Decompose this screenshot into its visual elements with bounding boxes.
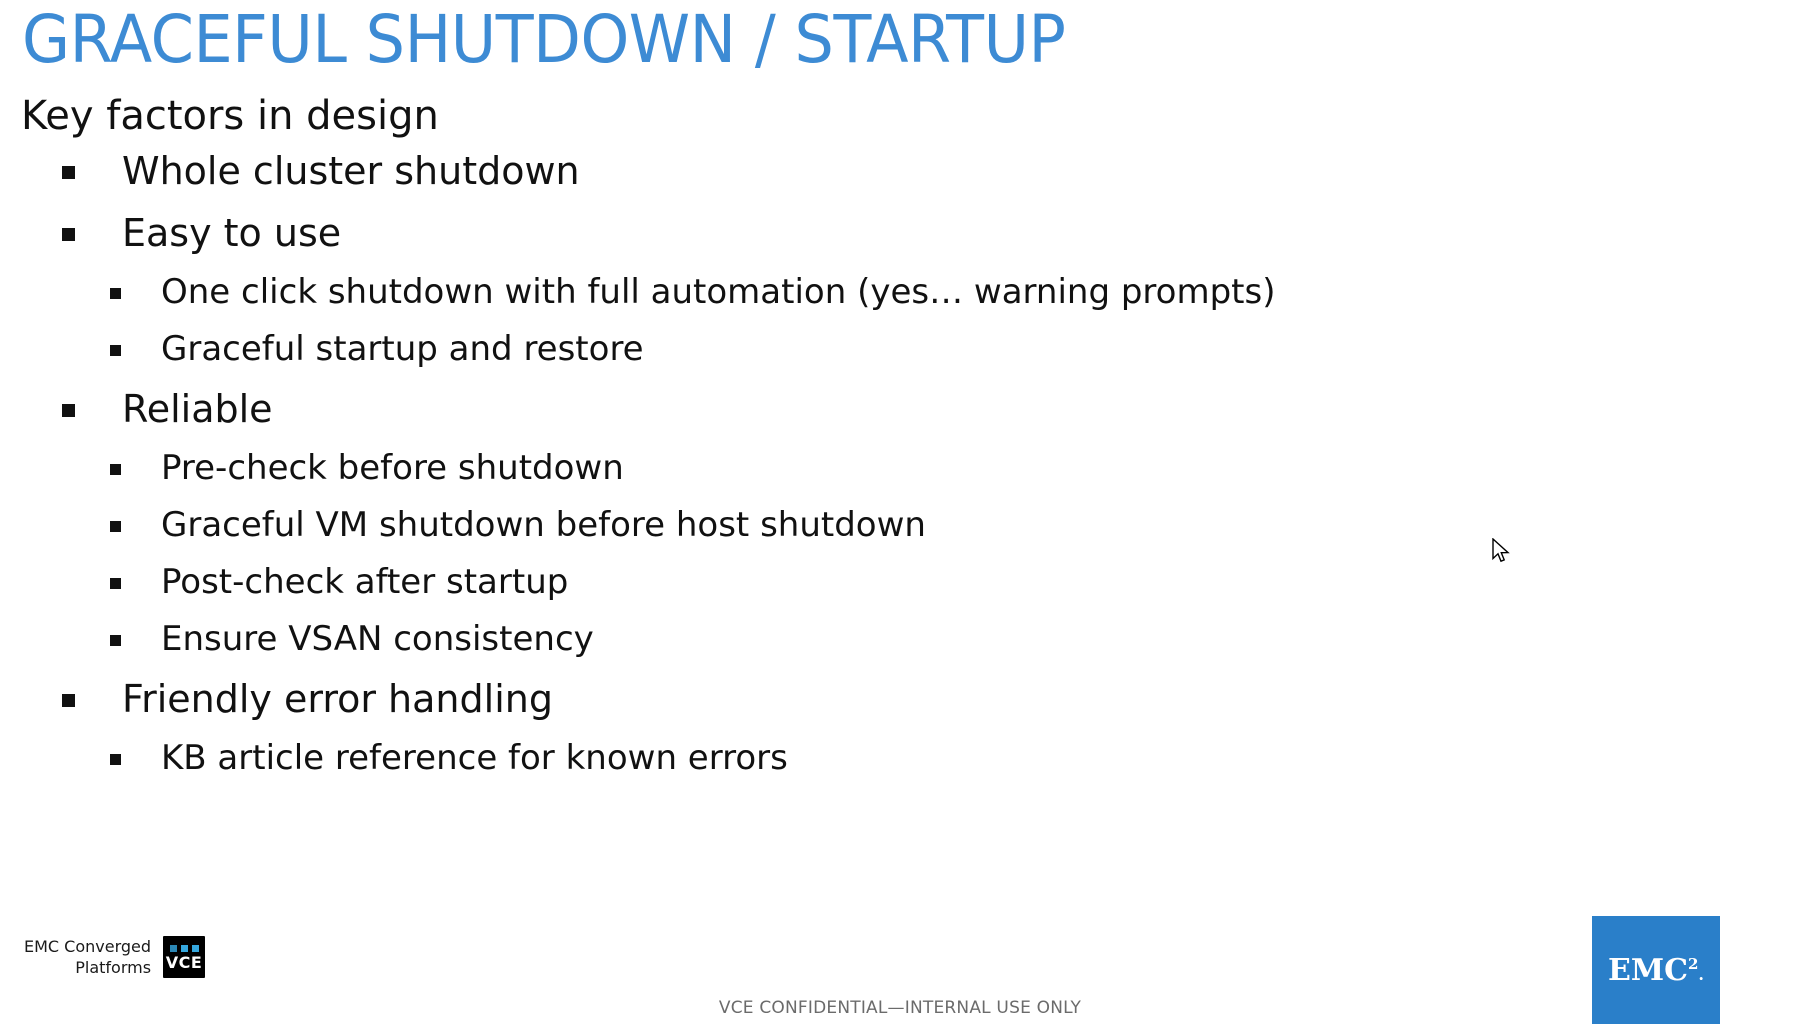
list-item-label: Ensure VSAN consistency xyxy=(161,611,594,668)
list-item-label: Graceful startup and restore xyxy=(161,321,644,378)
page-title: GRACEFUL SHUTDOWN / STARTUP xyxy=(22,0,1065,82)
list-item-label: KB article reference for known errors xyxy=(161,730,788,787)
slide-canvas: GRACEFUL SHUTDOWN / STARTUP Key factors … xyxy=(0,0,1800,1024)
confidentiality-footer: VCE CONFIDENTIAL—INTERNAL USE ONLY xyxy=(0,997,1800,1019)
emc-logo-trailing-dot: . xyxy=(1698,965,1704,984)
list-item: Friendly error handling xyxy=(0,668,1500,730)
vce-mark-squares xyxy=(170,945,199,952)
list-item-label: Pre-check before shutdown xyxy=(161,440,624,497)
vce-mark-icon: VCE xyxy=(163,936,205,978)
list-item: KB article reference for known errors xyxy=(0,730,1500,787)
emc-logo-wordmark: EMC2. xyxy=(1608,956,1704,990)
emc-logo-superscript: 2 xyxy=(1688,955,1698,973)
list-item: Ensure VSAN consistency xyxy=(0,611,1500,668)
list-item-label: Friendly error handling xyxy=(122,668,553,730)
square-bullet-icon xyxy=(110,345,121,356)
square-bullet-icon xyxy=(110,464,121,475)
list-item-label: Graceful VM shutdown before host shutdow… xyxy=(161,497,926,554)
vce-square-1-icon xyxy=(170,945,177,952)
list-item: Reliable xyxy=(0,378,1500,440)
list-item-label: Reliable xyxy=(122,378,273,440)
square-bullet-icon xyxy=(110,578,121,589)
slide-subtitle: Key factors in design xyxy=(21,92,439,140)
list-item-label: Easy to use xyxy=(122,202,341,264)
bullet-list: Whole cluster shutdown Easy to use One c… xyxy=(0,140,1500,787)
vce-logo-line2: Platforms xyxy=(24,957,151,978)
square-bullet-icon xyxy=(62,694,75,707)
list-item: Pre-check before shutdown xyxy=(0,440,1500,497)
square-bullet-icon xyxy=(110,521,121,532)
square-bullet-icon xyxy=(62,404,75,417)
square-bullet-icon xyxy=(62,228,75,241)
list-item: One click shutdown with full automation … xyxy=(0,264,1500,321)
list-item: Whole cluster shutdown xyxy=(0,140,1500,202)
vce-converged-platforms-logo: EMC Converged Platforms VCE xyxy=(24,936,205,978)
emc-logo: EMC2. xyxy=(1592,916,1720,1024)
vce-logo-wordmark: EMC Converged Platforms xyxy=(24,936,151,978)
list-item: Easy to use xyxy=(0,202,1500,264)
vce-square-2-icon xyxy=(181,945,188,952)
square-bullet-icon xyxy=(110,288,121,299)
vce-square-3-icon xyxy=(192,945,199,952)
list-item-label: Post-check after startup xyxy=(161,554,568,611)
square-bullet-icon xyxy=(110,754,121,765)
emc-logo-word: EMC xyxy=(1608,953,1688,988)
square-bullet-icon xyxy=(110,635,121,646)
list-item: Graceful startup and restore xyxy=(0,321,1500,378)
list-item: Graceful VM shutdown before host shutdow… xyxy=(0,497,1500,554)
list-item-label: Whole cluster shutdown xyxy=(122,140,580,202)
vce-mark-label: VCE xyxy=(166,954,203,971)
vce-logo-line1: EMC Converged xyxy=(24,936,151,957)
list-item: Post-check after startup xyxy=(0,554,1500,611)
list-item-label: One click shutdown with full automation … xyxy=(161,264,1275,321)
square-bullet-icon xyxy=(62,166,75,179)
